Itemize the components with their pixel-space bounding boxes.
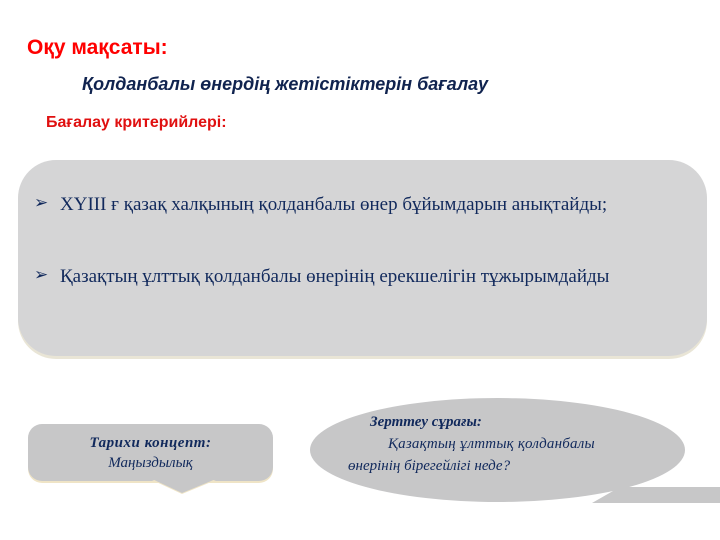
learning-objective-label: Оқу мақсаты: (27, 36, 168, 60)
list-item: ➢ XYIII ғ қазақ халқының қолданбалы өнер… (34, 190, 689, 219)
research-question-line-2: өнерінің бірегейлігі неде? (348, 455, 670, 477)
list-item: ➢ Қазақтың ұлттық қолданбалы өнерінің ер… (34, 262, 689, 291)
research-question-callout-tail (620, 487, 720, 503)
historical-concept-value: Маңыздылық (108, 453, 193, 473)
arrow-bullet-icon: ➢ (34, 190, 60, 217)
research-question-title: Зерттеу сұрағы: (370, 412, 670, 433)
historical-concept-callout-tail (152, 479, 216, 493)
research-question-line-1: Қазақтың ұлттық қолданбалы (370, 433, 670, 455)
learning-objective-text: Қолданбалы өнердің жетістіктерін бағалау (82, 74, 488, 95)
assessment-criteria-label: Бағалау критерийлері: (46, 114, 227, 132)
criteria-item-text: Қазақтың ұлттық қолданбалы өнерінің ерек… (60, 262, 689, 291)
historical-concept-title: Тарихи концепт: (90, 433, 212, 453)
slide-canvas: Оқу мақсаты: Қолданбалы өнердің жетістік… (0, 0, 720, 540)
arrow-bullet-icon: ➢ (34, 262, 60, 289)
criteria-item-text: XYIII ғ қазақ халқының қолданбалы өнер б… (60, 190, 689, 219)
historical-concept-content: Тарихи концепт: Маңыздылық (28, 424, 273, 481)
criteria-list: ➢ XYIII ғ қазақ халқының қолданбалы өнер… (18, 160, 707, 356)
research-question-content: Зерттеу сұрағы: Қазақтың ұлттық қолданба… (370, 412, 670, 477)
